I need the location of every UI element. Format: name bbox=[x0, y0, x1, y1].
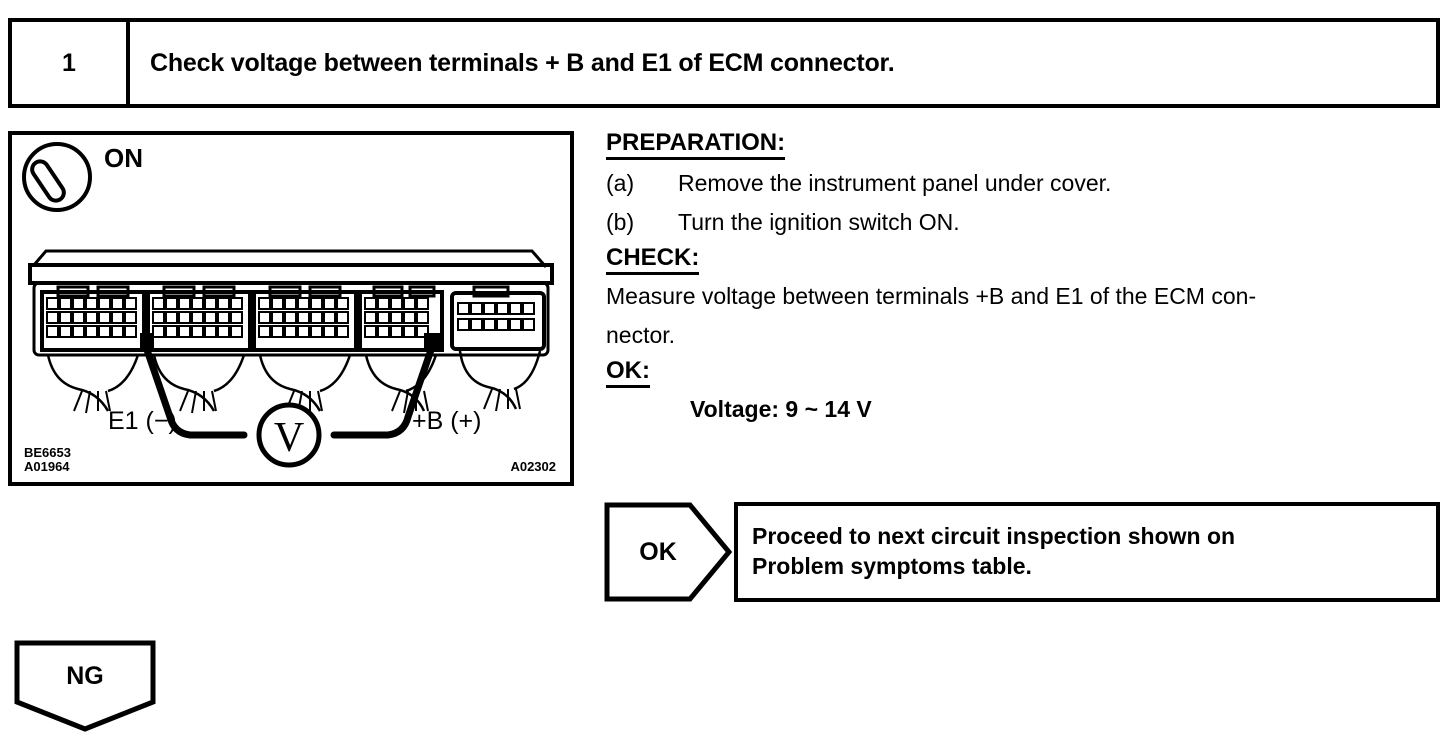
ok-result-line-1: Proceed to next circuit inspection shown… bbox=[752, 522, 1436, 552]
preparation-heading: PREPARATION: bbox=[606, 130, 785, 160]
step-label-a: (a) bbox=[606, 164, 678, 204]
ok-badge-label: OK bbox=[604, 502, 712, 602]
check-heading: CHECK: bbox=[606, 245, 699, 275]
ok-heading: OK: bbox=[606, 358, 650, 388]
preparation-step-b: (b) Turn the ignition switch ON. bbox=[606, 203, 1446, 243]
ok-result-row: OK Proceed to next circuit inspection sh… bbox=[604, 502, 1440, 602]
check-text-line-2: nector. bbox=[606, 316, 1446, 356]
preparation-step-a: (a) Remove the instrument panel under co… bbox=[606, 164, 1446, 204]
illustration-box: ON bbox=[8, 131, 574, 486]
ref-code-right: A02302 bbox=[510, 459, 556, 474]
step-number: 1 bbox=[62, 49, 76, 78]
voltmeter-symbol: V bbox=[259, 405, 319, 465]
probe-label-b: +B (+) bbox=[412, 407, 481, 435]
ecm-connector-illustration: ON bbox=[12, 135, 570, 482]
probe-label-e1: E1 (−) bbox=[108, 407, 177, 435]
step-text-a: Remove the instrument panel under cover. bbox=[678, 164, 1111, 204]
step-label-b: (b) bbox=[606, 203, 678, 243]
service-manual-page: 1 Check voltage between terminals + B an… bbox=[0, 0, 1456, 756]
check-text-line-1: Measure voltage between terminals +B and… bbox=[606, 277, 1446, 317]
ok-result-textbox: Proceed to next circuit inspection shown… bbox=[734, 502, 1440, 602]
ref-code-bottom: A01964 bbox=[24, 459, 70, 474]
step-number-cell: 1 bbox=[12, 22, 130, 104]
connector-blocks bbox=[42, 287, 544, 350]
svg-text:V: V bbox=[274, 415, 304, 461]
ng-badge-label: NG bbox=[14, 640, 156, 712]
ignition-switch-key-icon bbox=[24, 144, 90, 210]
ignition-state-label: ON bbox=[104, 143, 143, 173]
step-title-cell: Check voltage between terminals + B and … bbox=[130, 22, 1436, 104]
ref-code-top: BE6653 bbox=[24, 445, 71, 460]
ok-specification: Voltage: 9 ~ 14 V bbox=[606, 390, 1446, 430]
instruction-text-column: PREPARATION: (a) Remove the instrument p… bbox=[606, 130, 1446, 429]
step-text-b: Turn the ignition switch ON. bbox=[678, 203, 960, 243]
ok-result-line-2: Problem symptoms table. bbox=[752, 552, 1436, 582]
step-title: Check voltage between terminals + B and … bbox=[150, 49, 894, 78]
step-header-box: 1 Check voltage between terminals + B an… bbox=[8, 18, 1440, 108]
